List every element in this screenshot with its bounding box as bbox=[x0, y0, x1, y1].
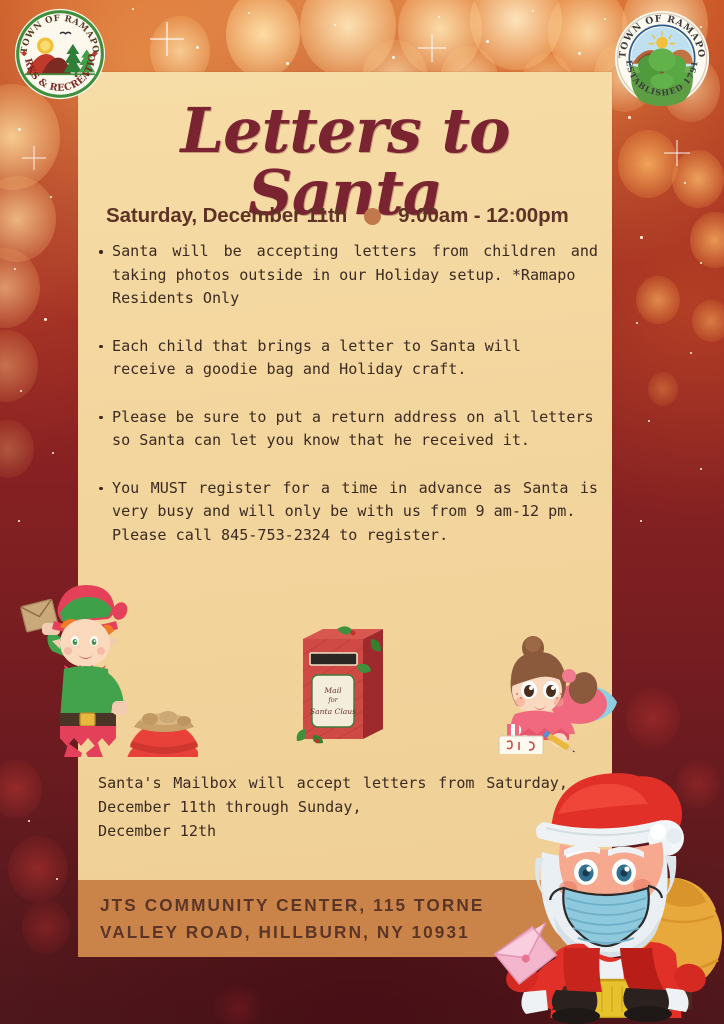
santa-legs-boots bbox=[494, 948, 722, 1024]
mailbox-illustration: Mail for Santa Claus bbox=[293, 625, 389, 747]
event-date-time-row: Saturday, December 11th 9:00am - 12:00pm bbox=[106, 204, 586, 228]
bullet-text-lastline: Please call 845-753-2324 to register. bbox=[112, 524, 598, 548]
mailbox-label-line3: Santa Claus bbox=[310, 707, 356, 716]
bullet-return-address: Please be sure to put a return address o… bbox=[98, 406, 598, 453]
event-date: Saturday, December 11th bbox=[106, 204, 347, 228]
bullet-must-register: You MUST register for a time in advance … bbox=[98, 477, 598, 548]
mailbox-label-line1: Mail bbox=[323, 686, 342, 695]
bullet-goodie-bag: Each child that brings a letter to Santa… bbox=[98, 335, 598, 382]
illustration-row: Mail for Santa Claus bbox=[78, 577, 612, 757]
mailbox-label-line2: for bbox=[327, 696, 338, 704]
town-of-ramapo-official-seal: TOWN OF RAMAPO ESTABLISHED 1791 bbox=[614, 10, 710, 106]
bullet-text-lastline: receive a goodie bag and Holiday craft. bbox=[112, 358, 598, 382]
details-bullet-list: Santa will be accepting letters from chi… bbox=[98, 240, 598, 547]
elf-illustration bbox=[8, 577, 198, 757]
bullet-text: Santa will be accepting letters from chi… bbox=[112, 242, 598, 284]
bullet-text: You MUST register for a time in advance … bbox=[112, 479, 598, 521]
bullet-text-lastline: Residents Only bbox=[112, 287, 598, 311]
event-time: 9:00am - 12:00pm bbox=[398, 204, 568, 228]
girl-writing-illustration bbox=[493, 632, 623, 754]
bullet-text: Each child that brings a letter to Santa… bbox=[112, 337, 521, 355]
bullet-text: Please be sure to put a return address o… bbox=[112, 408, 594, 426]
poster-root: Letters to Santa Saturday, December 11th… bbox=[0, 0, 724, 1024]
bullet-santa-letters-photos: Santa will be accepting letters from chi… bbox=[98, 240, 598, 311]
town-of-ramapo-parks-recreation-seal: TOWN OF RAMAPO PARKS & RECREATION bbox=[14, 8, 106, 100]
dot-separator-icon bbox=[364, 208, 381, 225]
bullet-text-lastline: so Santa can let you know that he receiv… bbox=[112, 429, 598, 453]
